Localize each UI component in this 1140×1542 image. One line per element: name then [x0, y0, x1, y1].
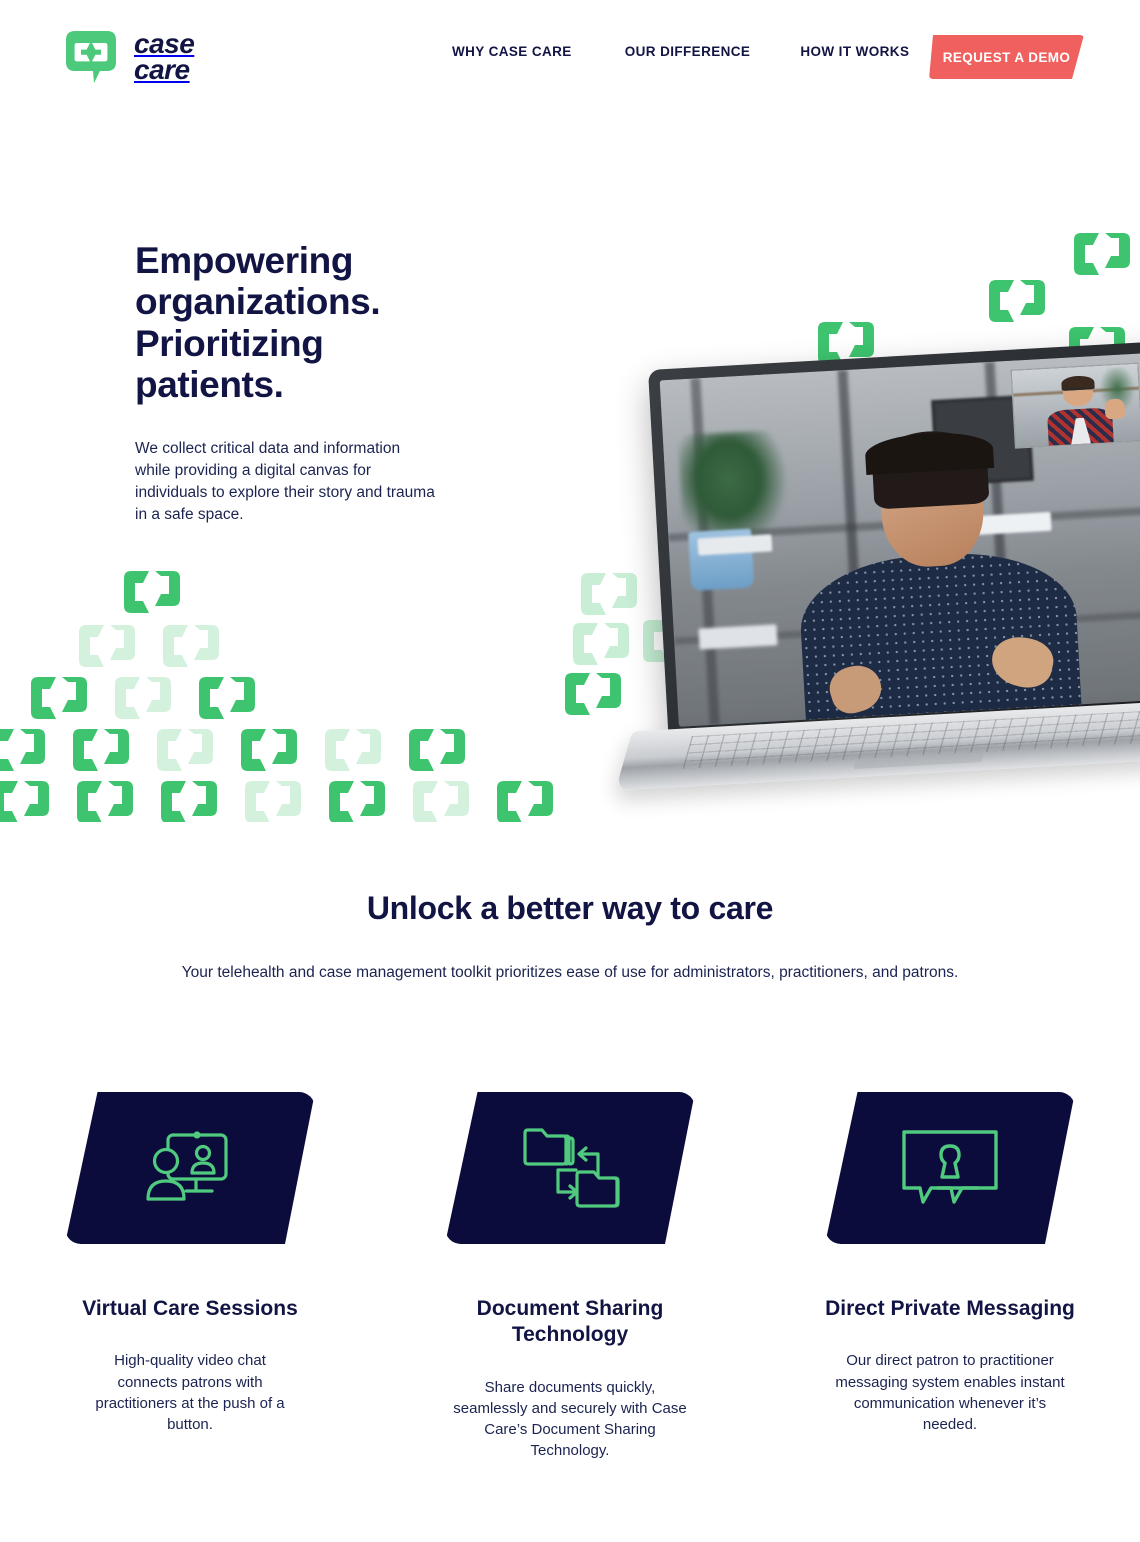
bracket-glyph: [326, 778, 388, 822]
feature-card-document-sharing-technology[interactable]: Document Sharing Technology Share docume…: [380, 1092, 760, 1462]
brand-word-care: care: [134, 54, 190, 85]
feature-card-title: Document Sharing Technology: [445, 1296, 695, 1349]
hero-subtitle: We collect critical data and information…: [135, 438, 435, 526]
bracket-glyph: [570, 620, 632, 668]
background-books: [698, 624, 778, 649]
feature-card-icon-panel: [445, 1092, 695, 1244]
bracket-glyph: [322, 726, 384, 774]
feature-card-virtual-care-sessions[interactable]: Virtual Care Sessions High-quality video…: [0, 1092, 380, 1462]
bracket-glyph: [28, 674, 90, 722]
brand-logo[interactable]: case care: [60, 26, 194, 88]
feature-card-description: High-quality video chat connects patrons…: [90, 1350, 290, 1435]
feature-card-description: Our direct patron to practitioner messag…: [828, 1350, 1072, 1435]
main-navigation: WHY CASE CARE OUR DIFFERENCE HOW IT WORK…: [452, 44, 909, 59]
feature-card-title: Direct Private Messaging: [825, 1296, 1075, 1322]
site-header: case care WHY CASE CARE OUR DIFFERENCE H…: [0, 0, 1140, 112]
hero-section: Empowering organizations. Prioritizing p…: [0, 112, 1140, 822]
features-heading: Unlock a better way to care: [0, 890, 1140, 927]
bracket-glyph: [494, 778, 556, 822]
bracket-glyph: [74, 778, 136, 822]
bracket-glyph: [160, 622, 222, 670]
feature-card-title: Virtual Care Sessions: [82, 1296, 298, 1322]
features-section: Unlock a better way to care Your telehea…: [0, 822, 1140, 1542]
laptop-lid: [648, 341, 1140, 741]
bracket-glyph: [76, 622, 138, 670]
bracket-glyph: [406, 726, 468, 774]
bracket-glyph: [578, 570, 640, 618]
bracket-glyph: [121, 568, 183, 616]
bracket-glyph: [0, 778, 52, 822]
laptop-screen: [660, 353, 1140, 727]
bracket-glyph: [410, 778, 472, 822]
bracket-glyph: [1071, 230, 1133, 278]
feature-card-direct-private-messaging[interactable]: Direct Private Messaging Our direct patr…: [760, 1092, 1140, 1462]
main-participant-woman-speaking: [801, 435, 1071, 719]
nav-item-our-difference[interactable]: OUR DIFFERENCE: [625, 44, 751, 59]
brand-wordmark: case care: [134, 31, 194, 83]
bracket-glyph: [158, 778, 220, 822]
nav-item-how-it-works[interactable]: HOW IT WORKS: [800, 44, 909, 59]
bracket-glyph: [0, 726, 48, 774]
folder-exchange-icon: [518, 1120, 622, 1217]
pip-participant-man-waving: [1011, 362, 1140, 449]
bracket-glyph: [112, 674, 174, 722]
bracket-glyph: [154, 726, 216, 774]
bracket-glyph: [70, 726, 132, 774]
pip-waving-hand: [1104, 398, 1125, 419]
bracket-glyph: [196, 674, 258, 722]
video-call-monitor-icon: [142, 1127, 238, 1210]
secure-chat-keyhole-icon: [898, 1126, 1002, 1211]
case-care-bracket-logo-icon: [60, 26, 122, 88]
bracket-glyph: [238, 726, 300, 774]
hero-title: Empowering organizations. Prioritizing p…: [135, 240, 475, 406]
bracket-glyph: [242, 778, 304, 822]
bracket-glyph: [562, 670, 624, 718]
bracket-glyph: [986, 277, 1048, 325]
nav-item-why-case-care[interactable]: WHY CASE CARE: [452, 44, 572, 59]
feature-card-icon-panel: [65, 1092, 315, 1244]
hero-copy: Empowering organizations. Prioritizing p…: [135, 240, 475, 526]
laptop-video-call-image: [648, 339, 1140, 815]
feature-card-list: Virtual Care Sessions High-quality video…: [0, 1092, 1140, 1462]
request-a-demo-button[interactable]: REQUEST A DEMO: [929, 35, 1084, 79]
feature-card-icon-panel: [825, 1092, 1075, 1244]
features-subheading: Your telehealth and case management tool…: [0, 962, 1140, 984]
feature-card-description: Share documents quickly, seamlessly and …: [450, 1377, 690, 1462]
